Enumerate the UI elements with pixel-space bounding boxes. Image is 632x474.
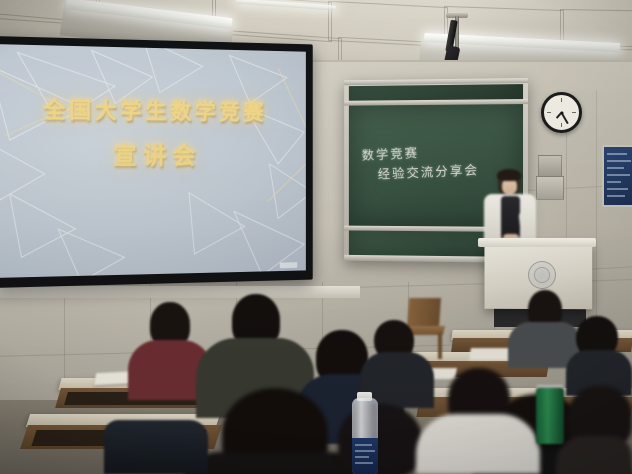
slide-title-line-2: 宣讲会 [0, 136, 306, 172]
audience-shoulders-white-shirt [416, 414, 540, 474]
slide-title-line-1: 全国大学生数学竞赛 [0, 90, 306, 126]
podium-top-surface [478, 238, 596, 247]
chair-leg [438, 333, 442, 359]
backpack [104, 420, 208, 474]
chalk-line-2: 经验交流分享会 [377, 162, 479, 186]
water-bottle [352, 398, 378, 474]
green-can [536, 388, 564, 444]
speaker-hair [497, 169, 521, 181]
chair-backrest [407, 298, 441, 328]
screen-brand-logo [280, 262, 297, 268]
wall-clock [541, 92, 582, 133]
water-bottle-label [352, 438, 378, 474]
wall-mounted-box [536, 176, 564, 200]
projected-slide: 全国大学生数学竞赛 宣讲会 [0, 44, 306, 278]
audience-shoulders-near-dark-right [556, 436, 632, 474]
wall-skirting [0, 286, 360, 298]
classroom-photo: 数学竞赛 经验交流分享会 [0, 0, 632, 474]
slide-text-block: 全国大学生数学竞赛 宣讲会 [0, 90, 306, 172]
blackboard-chalk-text: 数学竞赛 经验交流分享会 [361, 142, 479, 187]
projection-screen: 全国大学生数学竞赛 宣讲会 [0, 36, 313, 288]
university-emblem-icon [528, 261, 556, 289]
audience-head-near-center [338, 404, 422, 474]
wall-panel-upper [538, 155, 562, 177]
notice-board [602, 145, 632, 207]
